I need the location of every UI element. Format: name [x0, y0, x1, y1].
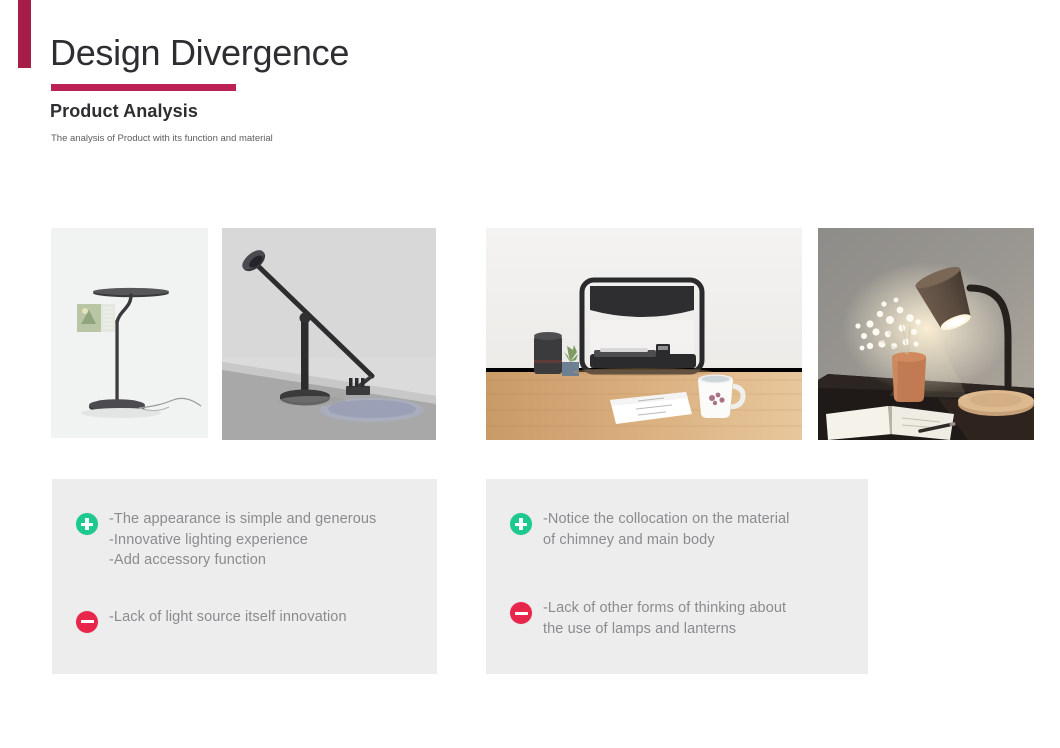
- panel-spacer: [510, 560, 844, 598]
- section-title: Product Analysis: [50, 101, 198, 122]
- cons-group-left: -Lack of light source itself innovation: [76, 607, 413, 633]
- cons-text-left: -Lack of light source itself innovation: [109, 607, 347, 628]
- pro-line: -Add accessory function: [109, 550, 376, 571]
- cons-group-right: -Lack of other forms of thinking about t…: [510, 598, 844, 639]
- pro-line: -Notice the collocation on the material: [543, 509, 790, 530]
- con-line: -Lack of other forms of thinking about: [543, 598, 786, 619]
- accent-bar-vertical: [18, 0, 31, 68]
- gallery-image-floor-lamp-with-magazine-rack[interactable]: [51, 228, 208, 438]
- plus-circle-icon: [76, 513, 98, 535]
- gallery-image-rectangular-desk-lamp-scene[interactable]: [486, 228, 802, 440]
- pros-text-left: -The appearance is simple and generous -…: [109, 509, 376, 571]
- accent-underline: [51, 84, 236, 91]
- pros-text-right: -Notice the collocation on the material …: [543, 509, 790, 550]
- minus-circle-icon: [76, 611, 98, 633]
- plus-circle-icon: [510, 513, 532, 535]
- section-description: The analysis of Product with its functio…: [51, 132, 283, 147]
- pro-line: of chimney and main body: [543, 530, 790, 551]
- con-line: -Lack of light source itself innovation: [109, 607, 347, 628]
- con-line: the use of lamps and lanterns: [543, 619, 786, 640]
- pros-group-right: -Notice the collocation on the material …: [510, 509, 844, 550]
- gallery-image-warm-curved-arm-lamp-scene[interactable]: [818, 228, 1034, 440]
- minus-circle-icon: [510, 602, 532, 624]
- pro-line: -The appearance is simple and generous: [109, 509, 376, 530]
- page-title: Design Divergence: [50, 30, 349, 75]
- analysis-panel-left: -The appearance is simple and generous -…: [52, 479, 437, 674]
- slide-root: Design Divergence Product Analysis The a…: [0, 0, 1060, 748]
- pros-group-left: -The appearance is simple and generous -…: [76, 509, 413, 571]
- angled-desk-lamp-illustration: [222, 228, 436, 440]
- floor-lamp-illustration: [51, 228, 208, 438]
- analysis-panel-right: -Notice the collocation on the material …: [486, 479, 868, 674]
- cons-text-right: -Lack of other forms of thinking about t…: [543, 598, 786, 639]
- warm-lamp-scene-illustration: [818, 228, 1034, 440]
- panel-spacer: [76, 581, 413, 607]
- desk-scene-illustration: [486, 228, 802, 440]
- gallery-image-angled-arm-desk-lamp[interactable]: [222, 228, 436, 440]
- pro-line: -Innovative lighting experience: [109, 530, 376, 551]
